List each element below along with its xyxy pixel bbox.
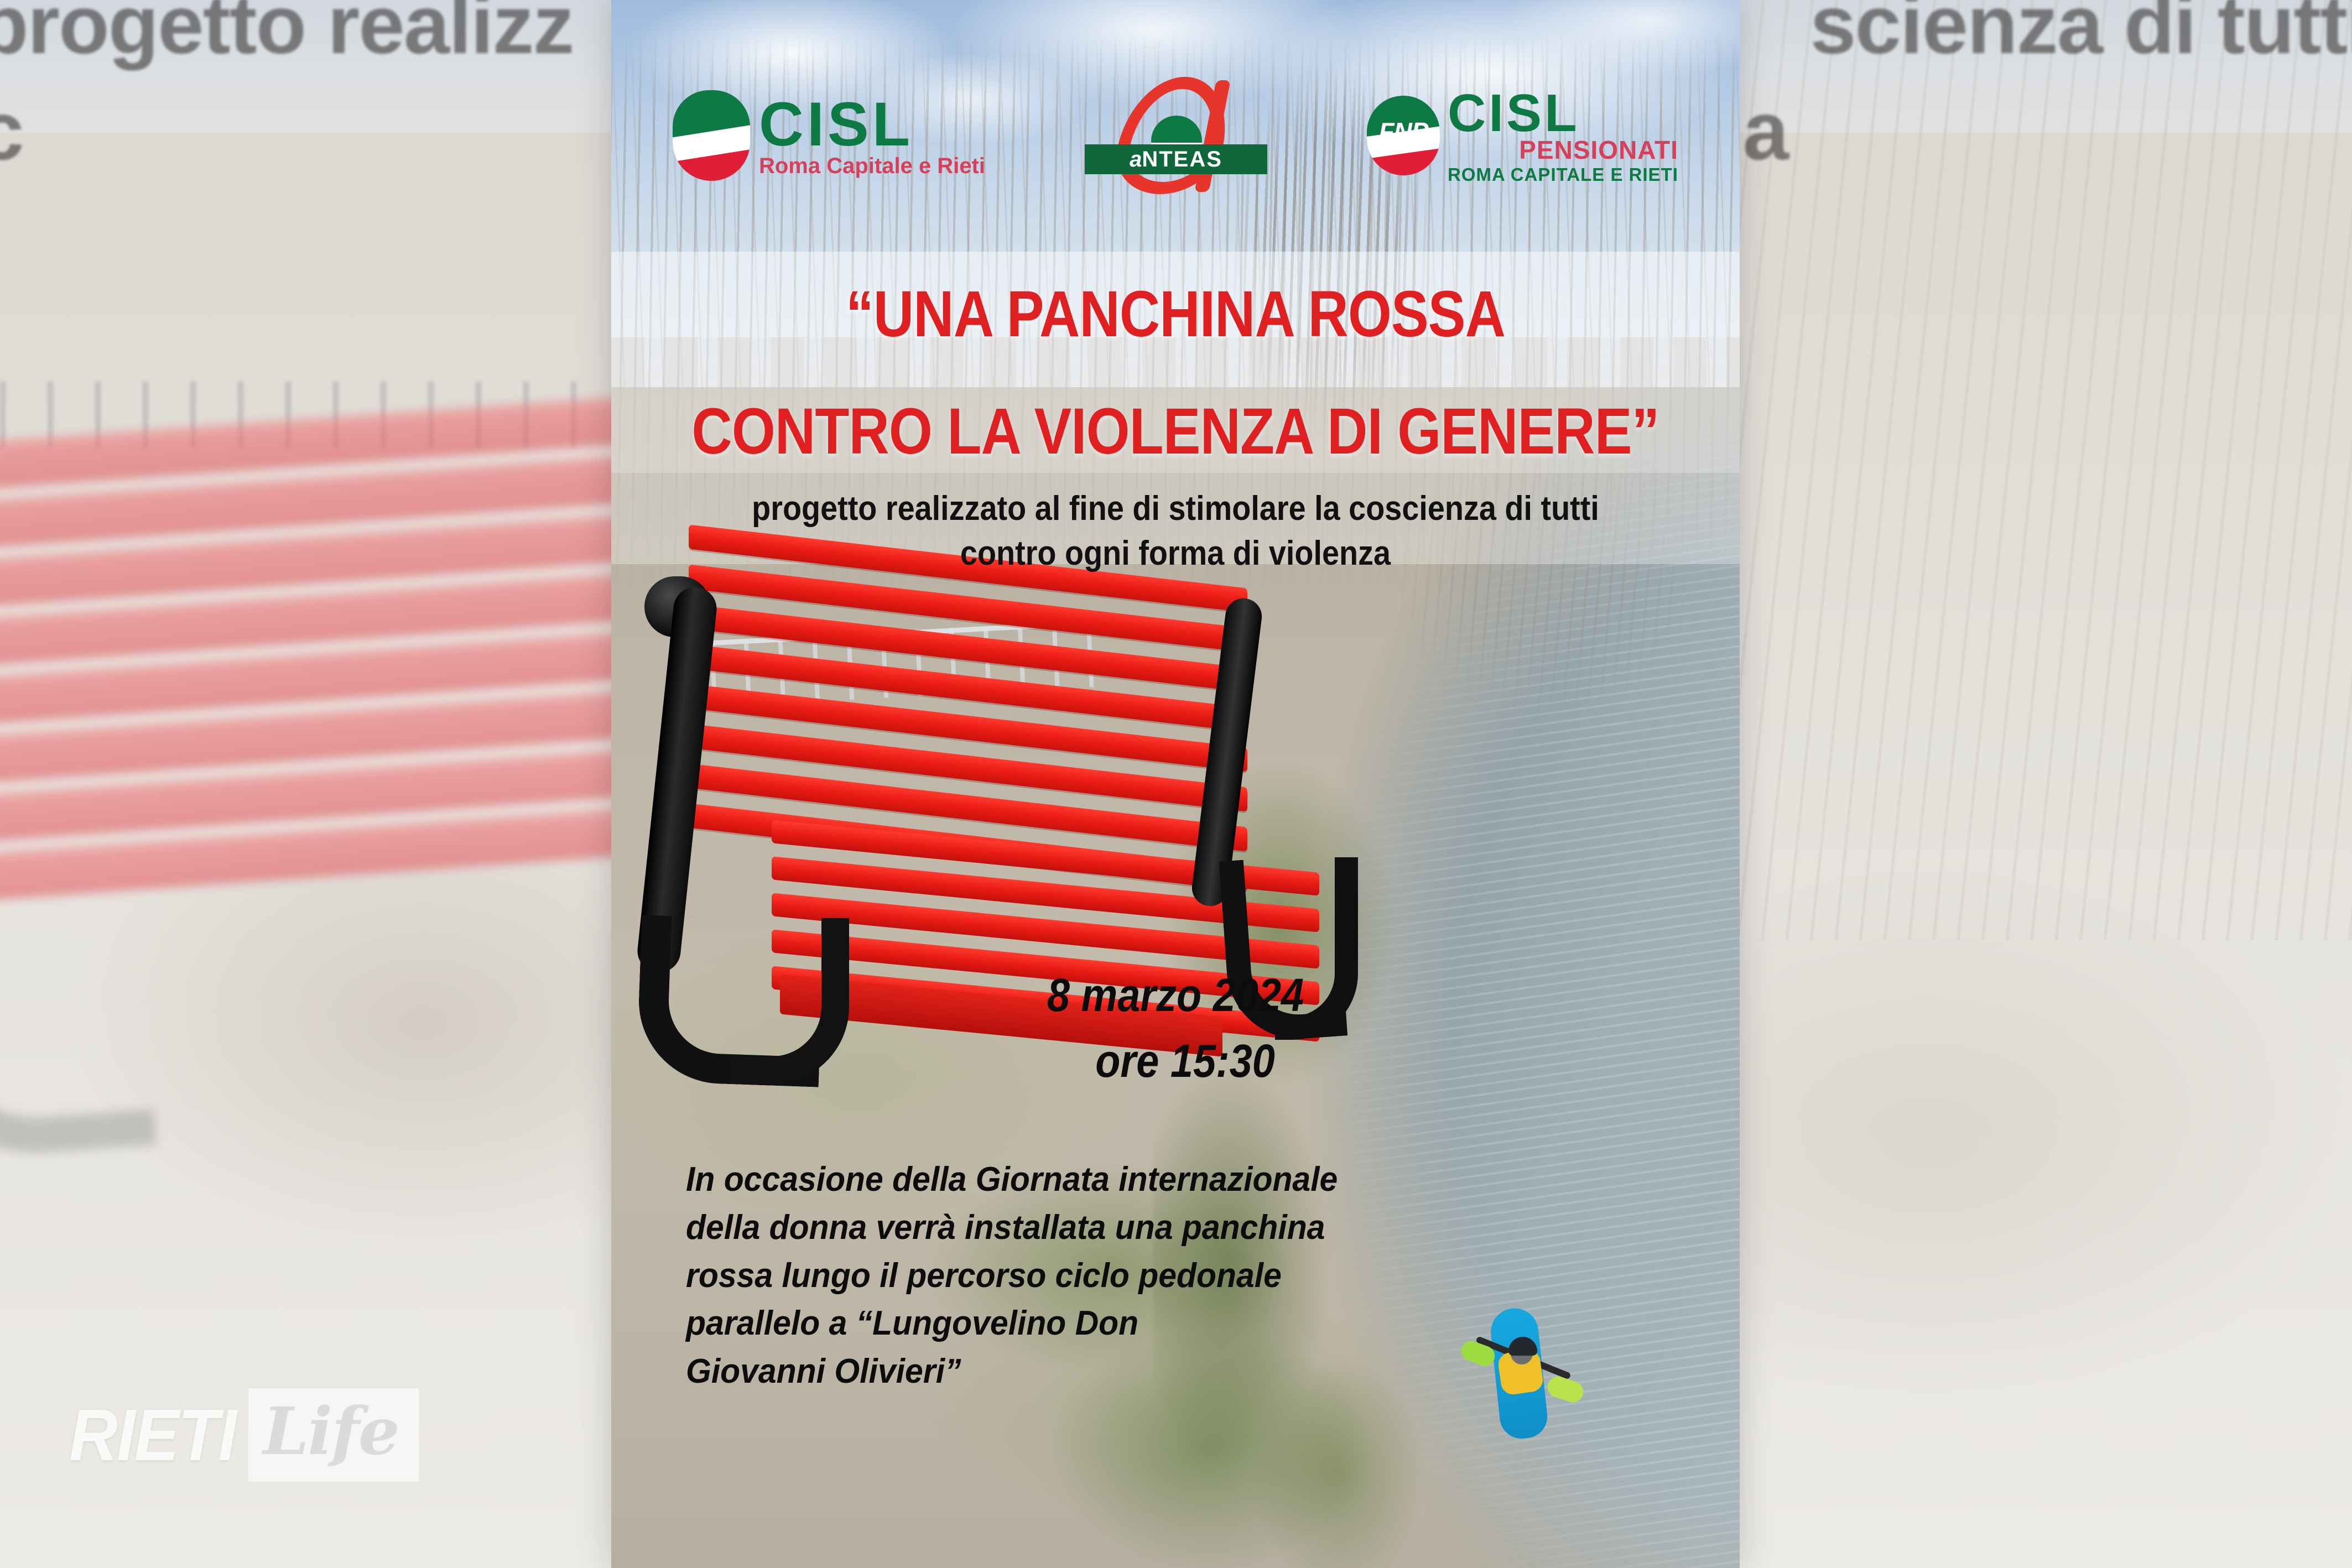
- watermark-suffix-box: Life: [248, 1388, 419, 1482]
- poster-subtitle: progetto realizzato al fine di stimolare…: [668, 487, 1683, 576]
- event-date: 8 marzo 2024: [1047, 969, 1304, 1021]
- backdrop-echo-text-left-2: c: [0, 83, 23, 179]
- cisl-wordmark: CISL: [759, 95, 985, 154]
- event-description-line-3: rossa lungo il percorso ciclo pedonale: [686, 1252, 1369, 1300]
- poster-title-line-2: CONTRO LA VIOLENZA DI GENERE”: [690, 394, 1661, 469]
- sponsor-logos-row: CISL Roma Capitale e Rieti a NTEAS FNP C…: [611, 72, 1740, 199]
- logo-anteas: a NTEAS: [1085, 75, 1267, 196]
- kayak-paddle-blade-right: [1545, 1374, 1586, 1405]
- poster-title: “UNA PANCHINA ROSSA CONTRO LA VIOLENZA D…: [611, 277, 1740, 469]
- anteas-wordmark: NTEAS: [1142, 147, 1222, 172]
- backdrop-echo-text-left-1: progetto realizz: [0, 0, 573, 72]
- event-description-line-5: Giovanni Olivieri”: [686, 1348, 1369, 1396]
- watermark-suffix: Life: [263, 1393, 399, 1470]
- fnp-badge-label: FNP: [1379, 117, 1428, 147]
- event-poster: CISL Roma Capitale e Rieti a NTEAS FNP C…: [611, 0, 1740, 1568]
- backdrop-echo-text-right-1: scienza di tutti: [1810, 0, 2352, 72]
- cisl-roundel-icon: [673, 90, 750, 181]
- watermark-brand: RIETI: [69, 1393, 236, 1477]
- anteas-initial: a: [1130, 147, 1142, 172]
- anteas-name-bar: a NTEAS: [1085, 144, 1267, 174]
- event-time: ore 15:30: [679, 1028, 1672, 1094]
- event-description: In occasione della Giornata internaziona…: [686, 1156, 1369, 1396]
- logo-cisl-roma: CISL Roma Capitale e Rieti: [673, 90, 985, 181]
- backdrop-red-bench: [0, 395, 706, 1210]
- event-description-line-1: In occasione della Giornata internaziona…: [686, 1156, 1369, 1204]
- poster-subtitle-line-1: progetto realizzato al fine di stimolare…: [668, 487, 1683, 532]
- event-description-line-2: della donna verrà installata una panchin…: [686, 1204, 1369, 1252]
- cisl-territory-label: Roma Capitale e Rieti: [759, 155, 985, 176]
- rieti-life-watermark: RIETI Life: [62, 1388, 419, 1482]
- fnp-territory-label: ROMA CAPITALE E RIETI: [1448, 166, 1678, 183]
- fnp-roundel-icon: FNP: [1367, 96, 1440, 175]
- fnp-cisl-wordmark: CISL: [1448, 88, 1678, 138]
- backdrop-echo-text-right-2: a: [1743, 83, 1788, 179]
- event-description-line-4: parallelo a “Lungovelino Don: [686, 1300, 1369, 1348]
- backdrop-trees: [1688, 0, 2352, 940]
- logo-fnp-cisl: FNP CISL PENSIONATI ROMA CAPITALE E RIET…: [1367, 88, 1678, 183]
- poster-title-line-1: “UNA PANCHINA ROSSA: [690, 277, 1661, 352]
- kayaker: [1463, 1308, 1585, 1452]
- event-datetime: 8 marzo 2024 ore 15:30: [679, 962, 1672, 1095]
- poster-subtitle-line-2: contro ogni forma di violenza: [668, 532, 1683, 576]
